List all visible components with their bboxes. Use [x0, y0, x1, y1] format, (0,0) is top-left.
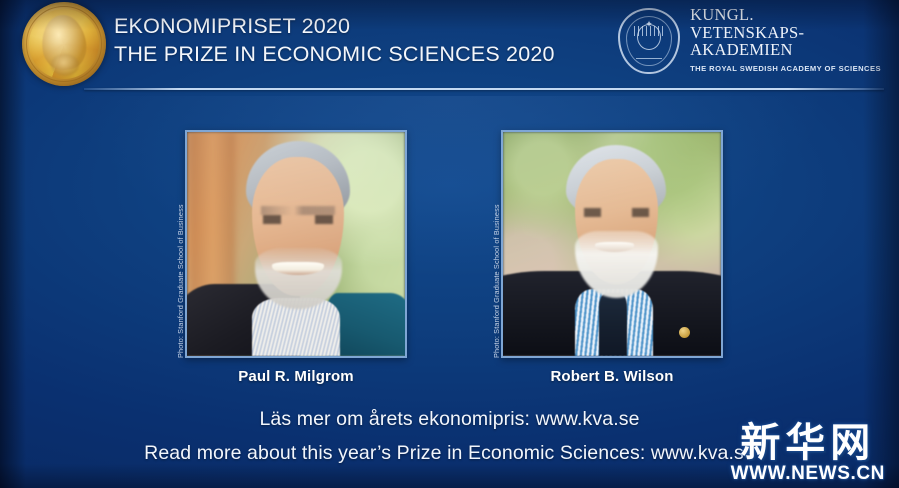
necktie — [599, 293, 627, 356]
medal-profile-lower — [51, 54, 80, 76]
nobel-prize-announcement-slide: EKONOMIPRISET 2020 THE PRIZE IN ECONOMIC… — [0, 0, 899, 488]
academy-seal-icon: ✦ — [618, 8, 680, 74]
footer-line-swedish: Läs mer om årets ekonomipris: www.kva.se — [0, 402, 899, 436]
academy-logo: ✦ KUNGL. VETENSKAPS- AKADEMIEN THE ROYAL… — [618, 6, 881, 82]
eyes — [263, 215, 333, 224]
academy-line-1: KUNGL. — [690, 6, 881, 24]
portrait-milgrom — [187, 132, 405, 356]
laureate-photo-milgrom — [185, 130, 407, 358]
footer: Läs mer om årets ekonomipris: www.kva.se… — [0, 402, 899, 470]
nobel-medal-icon — [22, 2, 106, 86]
header: EKONOMIPRISET 2020 THE PRIZE IN ECONOMIC… — [0, 0, 899, 92]
laureate-photo-wilson — [501, 130, 723, 358]
header-divider — [84, 88, 884, 90]
portrait-wilson — [503, 132, 721, 356]
title-english: THE PRIZE IN ECONOMIC SCIENCES 2020 — [114, 40, 555, 68]
footer-line-english: Read more about this year’s Prize in Eco… — [0, 436, 899, 470]
page-title: EKONOMIPRISET 2020 THE PRIZE IN ECONOMIC… — [114, 12, 555, 68]
academy-subtitle: THE ROYAL SWEDISH ACADEMY OF SCIENCES — [690, 64, 881, 73]
seal-face — [637, 24, 661, 50]
laureate-name-milgrom: Paul R. Milgrom — [176, 368, 416, 385]
academy-line-2: VETENSKAPS- — [690, 24, 881, 42]
seal-base — [636, 58, 662, 66]
screen-sheen — [0, 96, 899, 356]
academy-wordmark: KUNGL. VETENSKAPS- AKADEMIEN THE ROYAL S… — [690, 6, 881, 73]
title-swedish: EKONOMIPRISET 2020 — [114, 12, 555, 40]
eyebrows — [261, 206, 335, 215]
smile — [595, 242, 634, 252]
laureate-name-wilson: Robert B. Wilson — [492, 368, 732, 385]
eyes — [584, 208, 649, 217]
academy-line-3: AKADEMIEN — [690, 41, 881, 59]
